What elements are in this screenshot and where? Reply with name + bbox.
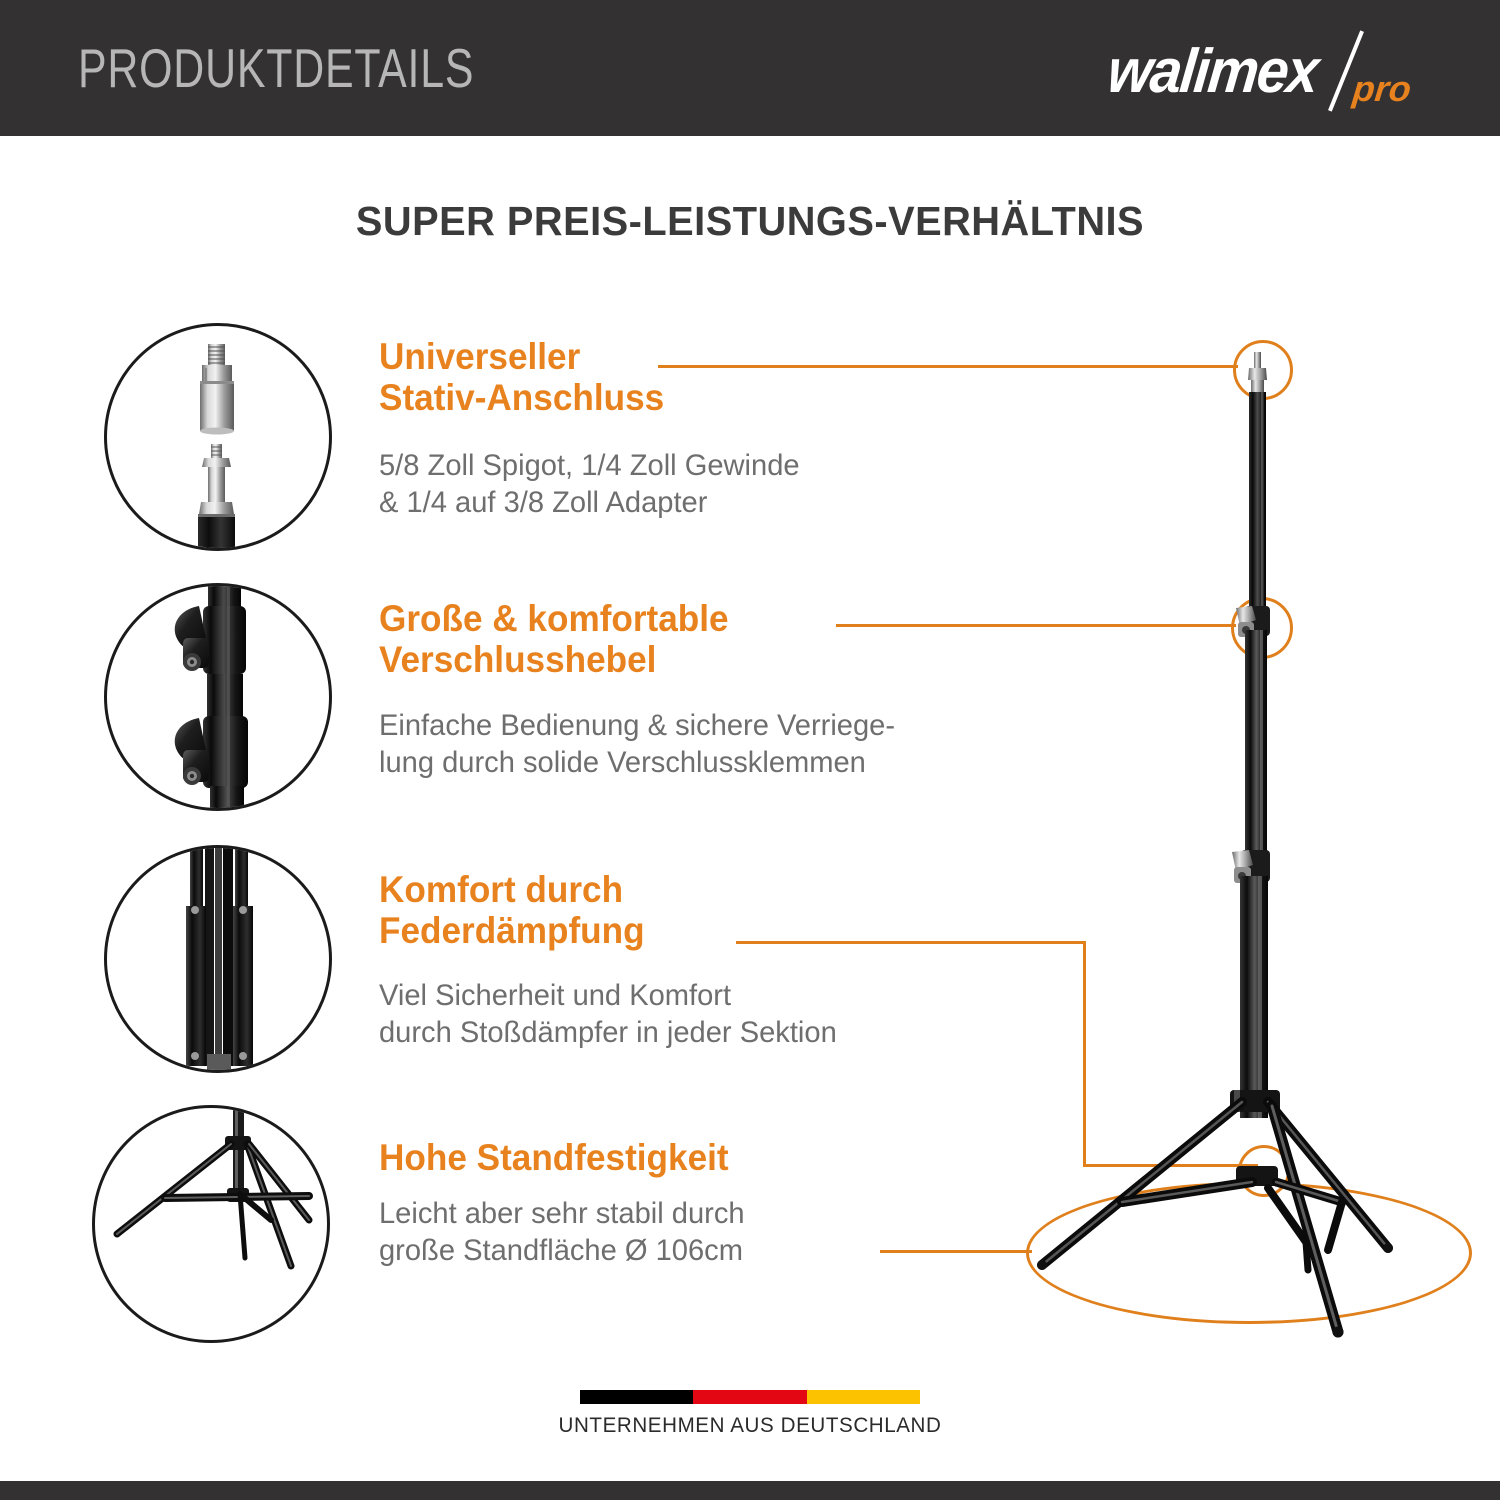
made-in-germany-badge: UNTERNEHMEN AUS DEUTSCHLAND (0, 1390, 1500, 1438)
page-title: PRODUKTDETAILS (78, 36, 474, 100)
headline: SUPER PREIS-LEISTUNGS-VERHÄLTNIS (23, 198, 1478, 245)
footer-bar (0, 1481, 1500, 1500)
flag-stripe-red (693, 1390, 806, 1404)
made-in-germany-label: UNTERNEHMEN AUS DEUTSCHLAND (15, 1414, 1485, 1438)
feature-body-2: Einfache Bedienung & sichere Verriege- l… (379, 708, 1039, 781)
header-bar: PRODUKTDETAILS walimex pro (0, 0, 1500, 136)
feature-body-4: Leicht aber sehr stabil durch große Stan… (379, 1196, 1039, 1269)
walimex-pro-logo: walimex pro (1108, 28, 1438, 112)
feature-image-tripod-base (92, 1105, 330, 1343)
feature-title-3: Komfort durch Federdämpfung (379, 869, 911, 952)
feature-body-1: 5/8 Zoll Spigot, 1/4 Zoll Gewinde & 1/4 … (379, 448, 1000, 521)
feature-title-2: Große & komfortable Verschlusshebel (379, 598, 911, 681)
feature-image-spigot-adapter (104, 323, 332, 551)
feature-body-3: Viel Sicherheit und Komfort durch Stoßdä… (379, 978, 1039, 1051)
flag-stripe-gold (807, 1390, 920, 1404)
logo-wordmark: walimex (1104, 36, 1321, 107)
product-details-infographic: PRODUKTDETAILS walimex pro SUPER PREIS-L… (0, 0, 1500, 1500)
feature-title-1: Universeller Stativ-Anschluss (379, 336, 873, 419)
product-illustration-light-stand (990, 330, 1490, 1350)
feature-image-locking-lever (104, 583, 332, 811)
feature-title-4: Hohe Standfestigkeit (379, 1137, 968, 1178)
german-flag-icon (580, 1390, 920, 1404)
logo-pro-wordmark: pro (1351, 68, 1413, 110)
flag-stripe-black (580, 1390, 693, 1404)
feature-image-folded-legs (104, 845, 332, 1073)
